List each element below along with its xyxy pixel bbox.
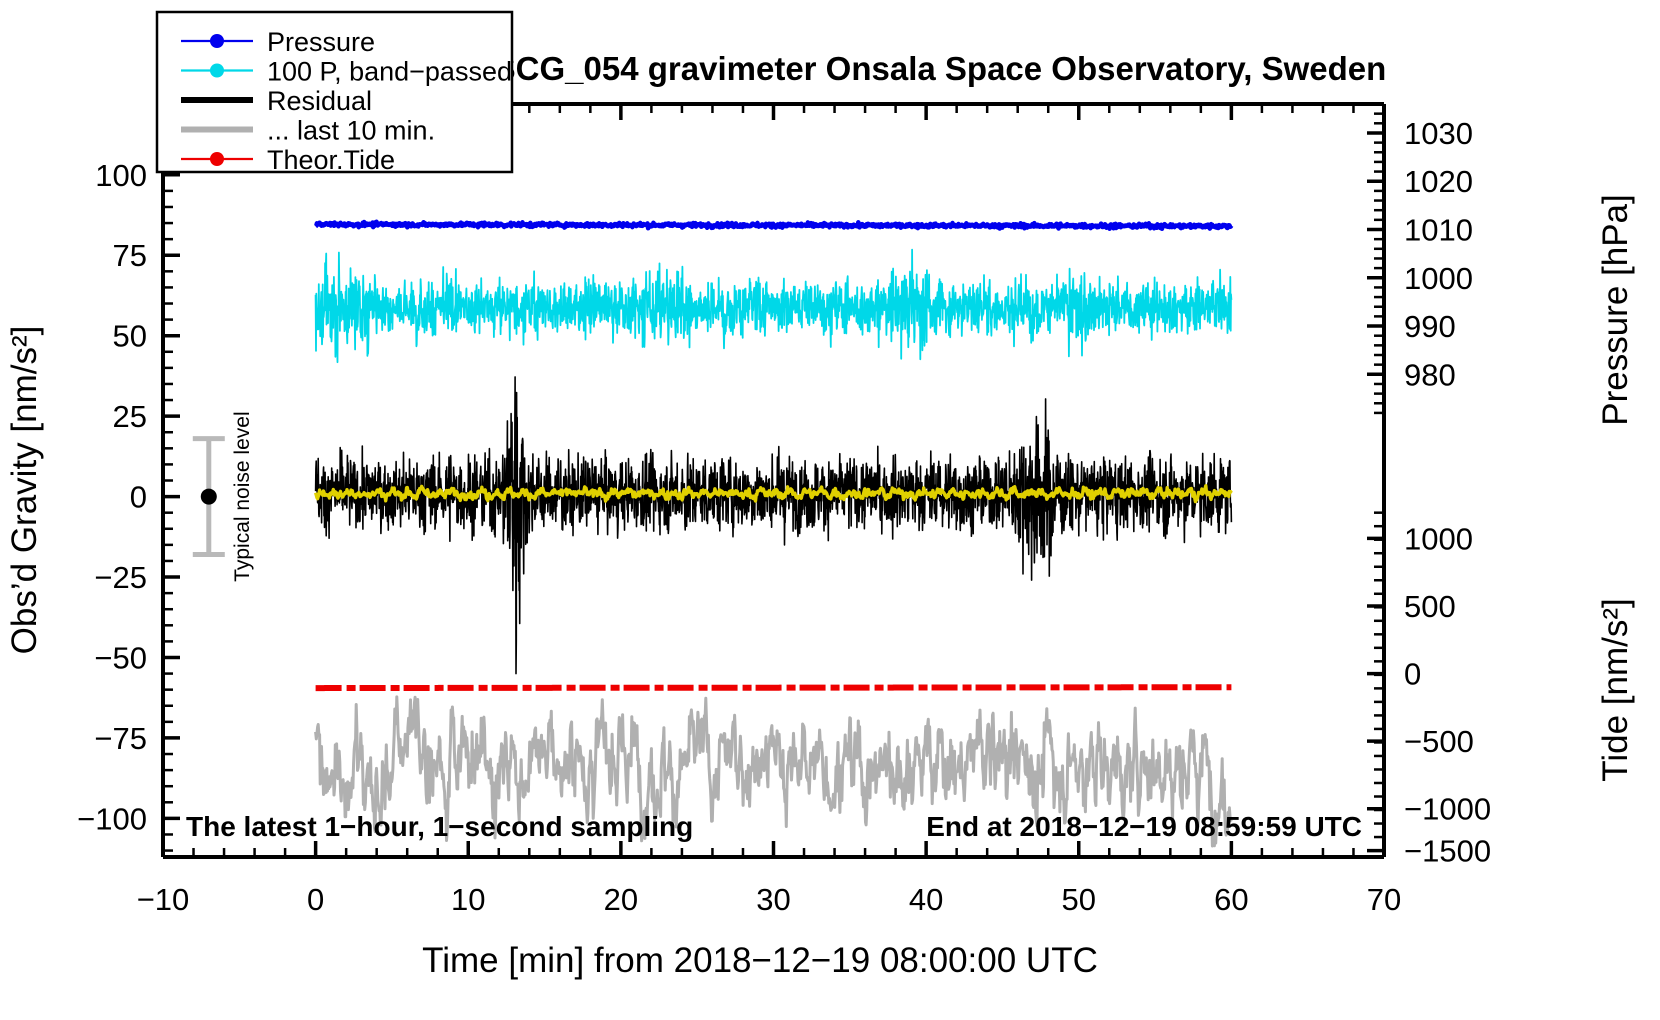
y-tick-label: 0 <box>130 480 147 515</box>
y-axis-title-tide: Tide [nm/s²] <box>1596 598 1635 781</box>
gravimeter-chart-figure: −100102030405060701007550250−25−50−75−10… <box>0 0 1660 1020</box>
legend-item-label: Residual <box>267 86 372 116</box>
x-tick-label: 40 <box>909 882 943 917</box>
x-tick-label: 30 <box>756 882 790 917</box>
annotation-bottom-left: The latest 1−hour, 1−second sampling <box>186 811 693 842</box>
x-tick-label: 10 <box>451 882 485 917</box>
noise-center-marker <box>201 489 217 505</box>
tide-tick-label: −500 <box>1404 724 1474 759</box>
legend-item-label: Theor.Tide <box>267 145 395 175</box>
tide-tick-label: −1500 <box>1404 834 1491 869</box>
y-tick-label: 50 <box>113 319 147 354</box>
page-title: SCG_054 gravimeter Onsala Space Observat… <box>494 50 1387 87</box>
x-tick-label: −10 <box>137 882 190 917</box>
y-tick-label: 100 <box>95 158 147 193</box>
x-tick-label: 70 <box>1367 882 1401 917</box>
x-tick-label: 20 <box>604 882 638 917</box>
x-axis-title: Time [min] from 2018−12−19 08:00:00 UTC <box>422 941 1098 980</box>
y-tick-label: −25 <box>94 560 147 595</box>
x-tick-label: 60 <box>1214 882 1248 917</box>
x-tick-label: 50 <box>1062 882 1096 917</box>
legend-item-label: Pressure <box>267 27 375 57</box>
y-tick-label: −75 <box>94 721 147 756</box>
y-tick-label: 25 <box>113 399 147 434</box>
pressure-tick-label: 1010 <box>1404 213 1473 248</box>
legend-marker-dot <box>210 152 224 166</box>
y-axis-title-pressure: Pressure [hPa] <box>1596 194 1635 426</box>
legend: Pressure100 P, band−passedResidual... la… <box>157 12 512 175</box>
x-tick-label: 0 <box>307 882 324 917</box>
noise-level-label: Typical noise level <box>231 411 254 581</box>
chart-svg: −100102030405060701007550250−25−50−75−10… <box>0 0 1660 1020</box>
legend-item-label: ... last 10 min. <box>267 116 435 146</box>
pressure-tick-label: 1000 <box>1404 261 1473 296</box>
y-tick-label: −100 <box>77 801 147 836</box>
y-tick-label: −50 <box>94 640 147 675</box>
tide-tick-label: 1000 <box>1404 521 1473 556</box>
y-axis-title-left: Obs’d Gravity [nm/s²] <box>5 326 44 655</box>
legend-item-label: 100 P, band−passed <box>267 57 512 87</box>
tide-tick-label: −1000 <box>1404 792 1491 827</box>
tide-tick-label: 500 <box>1404 589 1456 624</box>
tide-tick-label: 0 <box>1404 657 1421 692</box>
annotation-bottom-right: End at 2018−12−19 08:59:59 UTC <box>926 811 1362 842</box>
y-tick-label: 75 <box>113 238 147 273</box>
pressure-tick-label: 990 <box>1404 309 1456 344</box>
legend-marker-dot <box>210 64 224 78</box>
pressure-tick-label: 1020 <box>1404 164 1473 199</box>
pressure-tick-label: 1030 <box>1404 116 1473 151</box>
legend-marker-dot <box>210 34 224 48</box>
pressure-tick-label: 980 <box>1404 357 1456 392</box>
